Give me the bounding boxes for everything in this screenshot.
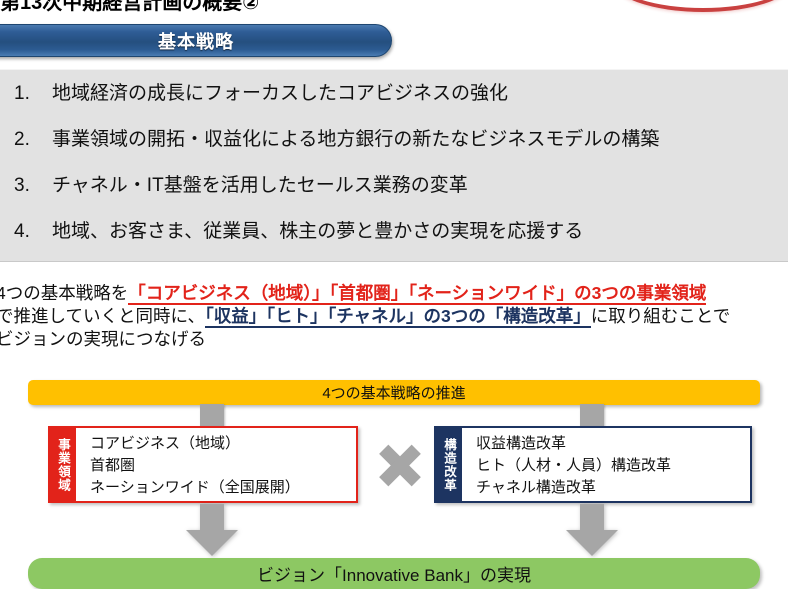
- structural-reform-lines: 収益構造改革 ヒト（人材・人員）構造改革 チャネル構造改革: [462, 428, 750, 501]
- arrow-head: [566, 530, 618, 556]
- arrow-head: [186, 530, 238, 556]
- structural-reform-line: 収益構造改革: [476, 433, 750, 455]
- diagram-bottom-bar-label: ビジョン「Innovative Bank」の実現: [28, 558, 760, 589]
- arrow-down-right-icon: [580, 504, 604, 556]
- business-domain-line: 首都圏: [90, 455, 356, 477]
- structural-reform-line: チャネル構造改革: [476, 477, 750, 499]
- arrow-stem: [580, 504, 604, 530]
- structural-reform-line: ヒト（人材・人員）構造改革: [476, 455, 750, 477]
- connector-left-top: [200, 404, 224, 426]
- business-domain-line: コアビジネス（地域）: [90, 433, 356, 455]
- connector-right-top: [580, 404, 604, 426]
- diagram-bottom-bar: ビジョン「Innovative Bank」の実現: [28, 558, 760, 589]
- arrow-down-left-icon: [200, 504, 224, 556]
- business-domain-lines: コアビジネス（地域） 首都圏 ネーションワイド（全国展開）: [76, 428, 356, 501]
- arrow-stem: [200, 504, 224, 530]
- slide-canvas: 第13次中期経営計画の概要② 基本戦略 1. 地域経済の成長にフォーカスしたコア…: [0, 0, 788, 589]
- structural-reform-box: 構造改革 収益構造改革 ヒト（人材・人員）構造改革 チャネル構造改革: [434, 426, 752, 503]
- structural-reform-tab-label: 構造改革: [436, 428, 462, 501]
- business-domain-line: ネーションワイド（全国展開）: [90, 477, 356, 499]
- business-domain-tab-label: 事業領域: [50, 428, 76, 501]
- diagram-top-bar: 4つの基本戦略の推進: [28, 380, 760, 405]
- strategy-diagram: 4つの基本戦略の推進 事業領域 コアビジネス（地域） 首都圏 ネーションワイド（…: [0, 0, 788, 589]
- diagram-top-bar-label: 4つの基本戦略の推進: [28, 380, 760, 405]
- multiply-icon: [378, 443, 422, 487]
- business-domain-box: 事業領域 コアビジネス（地域） 首都圏 ネーションワイド（全国展開）: [48, 426, 358, 503]
